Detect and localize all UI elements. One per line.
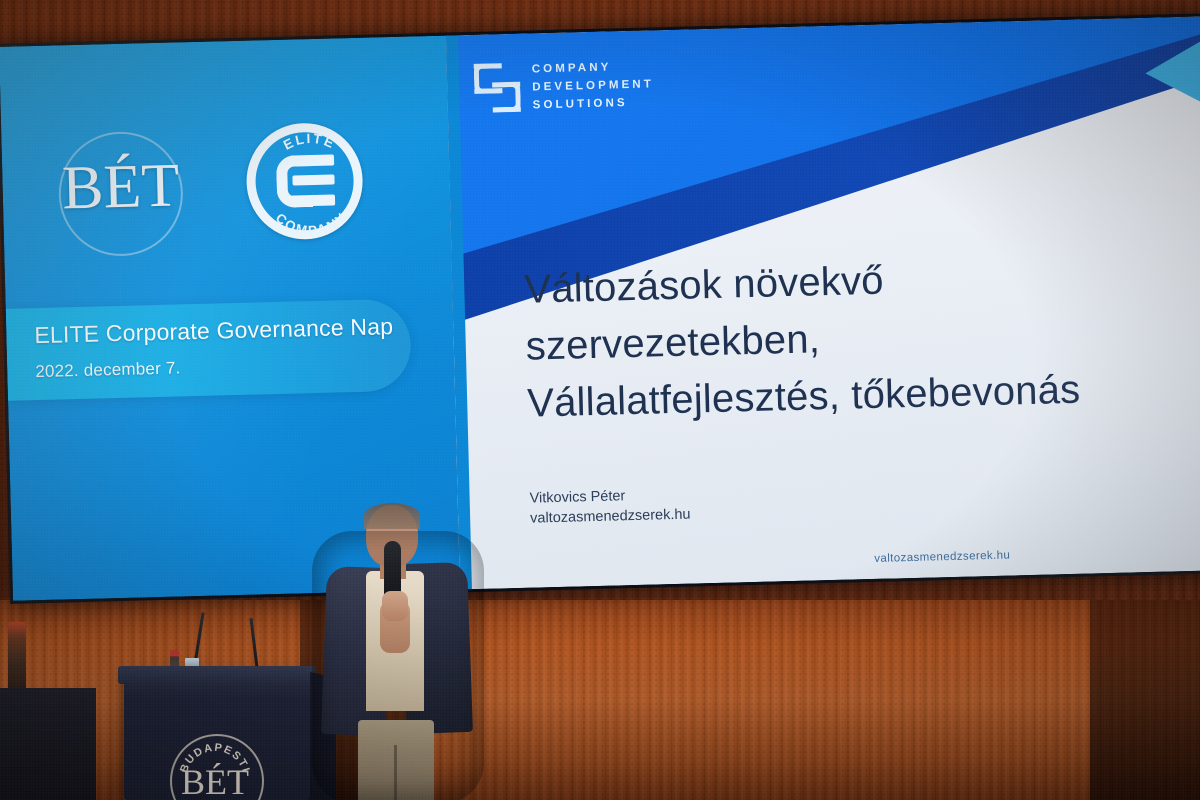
left-slide-logo-row: BÉT	[21, 115, 404, 265]
brand-line-solutions: SOLUTIONS	[532, 93, 654, 114]
elite-company-badge: ELITE COMPANY	[239, 115, 382, 258]
cds-brand-wordmark: COMPANY DEVELOPMENT SOLUTIONS	[532, 57, 655, 114]
conference-stage-photo: BÉT	[0, 0, 1200, 800]
presentation-title: Változások növekvő szervezetekben, Válla…	[524, 243, 1200, 433]
event-date: 2022. december 7.	[35, 358, 181, 382]
hand	[382, 591, 408, 621]
event-title: ELITE Corporate Governance Nap	[34, 313, 393, 349]
slide-right-cds-title: COMPANY DEVELOPMENT SOLUTIONS Változások…	[446, 16, 1200, 589]
cds-brand-logo: COMPANY DEVELOPMENT SOLUTIONS	[474, 55, 686, 122]
event-title-band: ELITE Corporate Governance Nap 2022. dec…	[6, 299, 412, 401]
presenter-person	[318, 505, 478, 800]
podium: BÉT BUDAPESTI	[124, 676, 310, 800]
podium-logo-arc-label: BUDAPESTI	[170, 734, 260, 800]
trouser-seam	[394, 745, 397, 800]
svg-text:BUDAPESTI: BUDAPESTI	[178, 742, 252, 775]
hair	[364, 503, 420, 529]
bet-logo-text: BÉT	[30, 154, 212, 221]
presenter-website: valtozasmenedzserek.hu	[530, 505, 691, 529]
svg-text:ELITE: ELITE	[281, 130, 339, 153]
presenter-credit: Vitkovics Péter valtozasmenedzserek.hu	[529, 485, 690, 529]
cs-monogram-icon	[474, 63, 521, 114]
svg-text:COMPANY: COMPANY	[272, 208, 351, 239]
side-object	[8, 622, 26, 692]
podium-top-surface	[118, 666, 316, 684]
brand-line-development: DEVELOPMENT	[532, 75, 654, 96]
elite-badge-arc-labels: ELITE COMPANY	[239, 115, 382, 258]
podium-bet-logo: BÉT BUDAPESTI	[170, 734, 266, 800]
side-table	[0, 688, 96, 800]
bet-logo: BÉT	[29, 124, 212, 261]
projection-screen: BÉT	[0, 13, 1200, 603]
projection-screen-area: BÉT	[0, 0, 1200, 640]
